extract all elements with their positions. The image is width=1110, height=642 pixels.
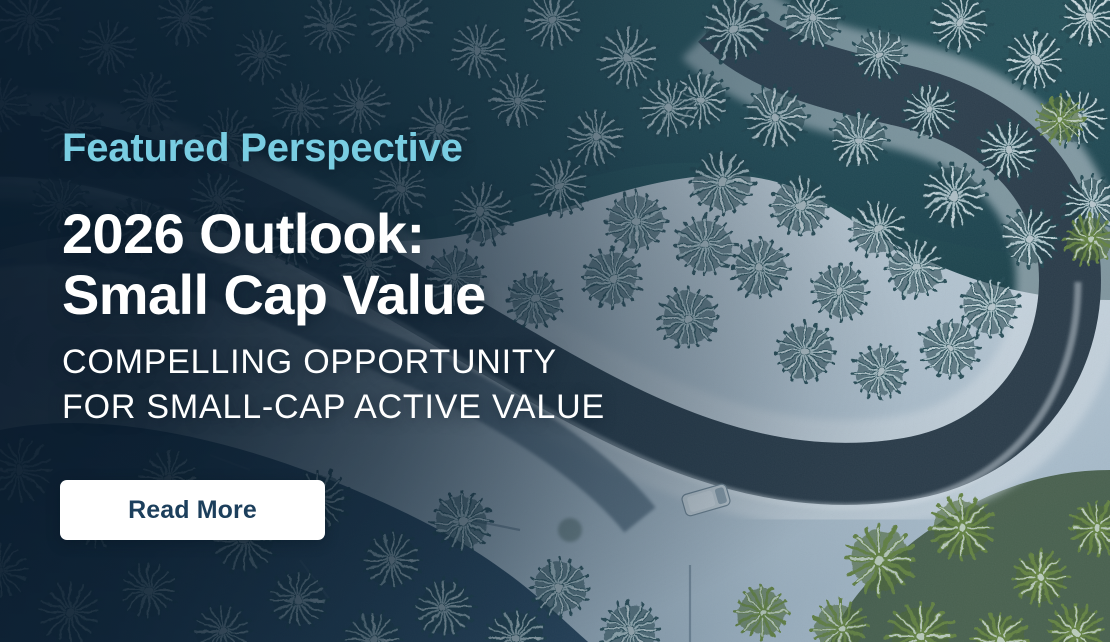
eyebrow-label: Featured Perspective: [62, 126, 463, 170]
page-title: 2026 Outlook: Small Cap Value: [62, 203, 486, 325]
banner-content: Featured Perspective 2026 Outlook: Small…: [62, 0, 822, 642]
featured-perspective-banner: Featured Perspective 2026 Outlook: Small…: [0, 0, 1110, 642]
page-subtitle: COMPELLING OPPORTUNITY FOR SMALL-CAP ACT…: [62, 340, 605, 430]
read-more-button[interactable]: Read More: [60, 480, 325, 540]
